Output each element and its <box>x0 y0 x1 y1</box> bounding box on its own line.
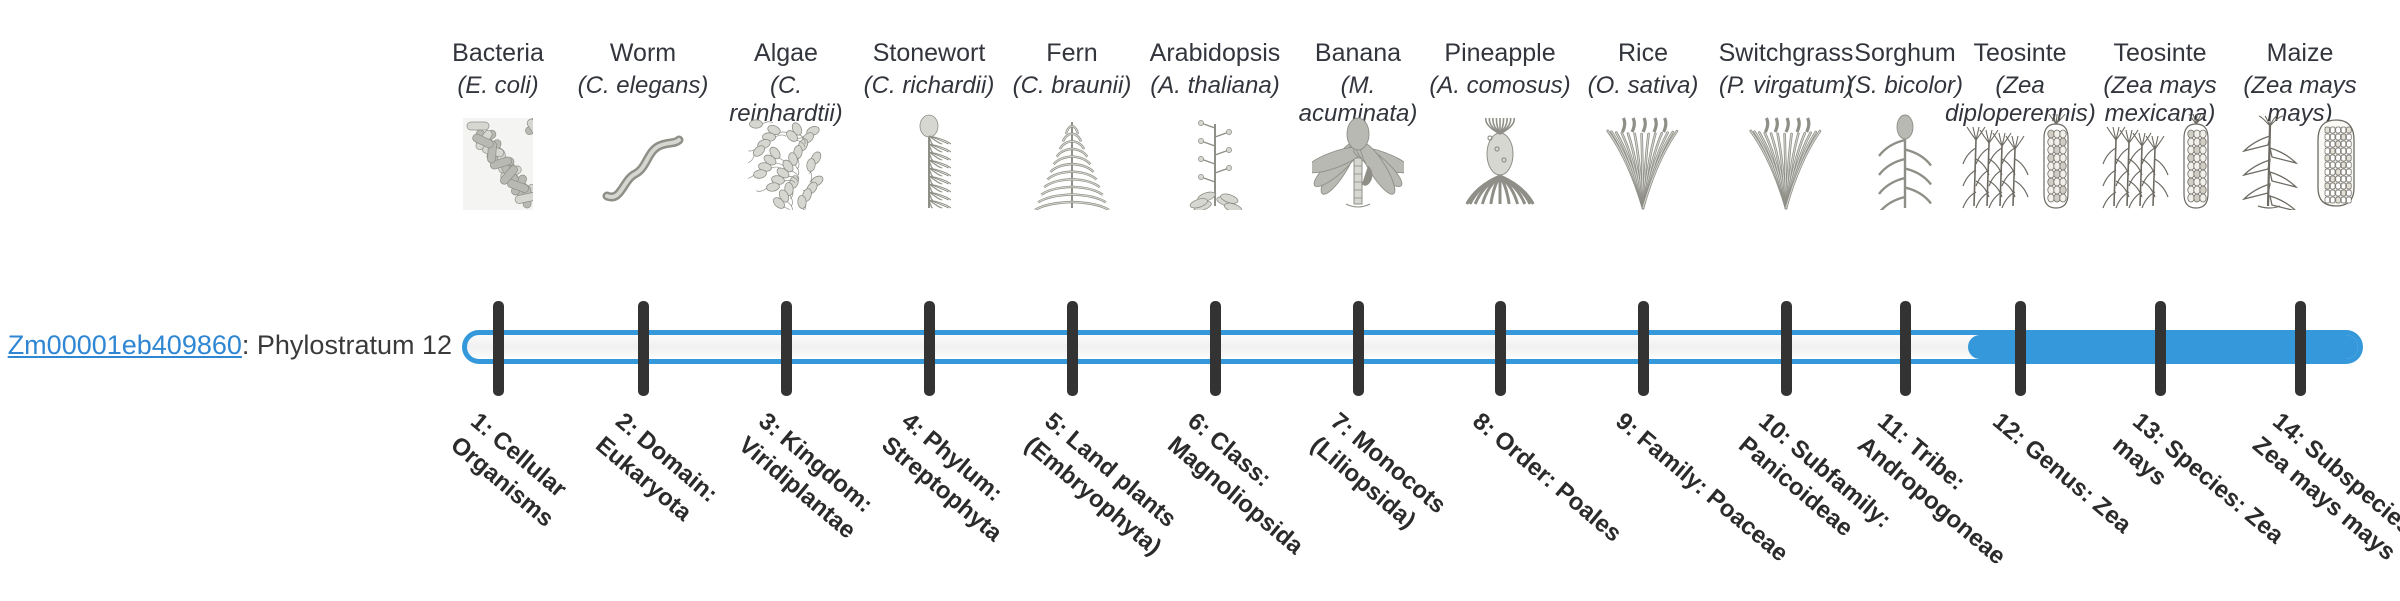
stratum-tick[interactable] <box>2015 301 2026 396</box>
nematode-worm-icon <box>568 110 718 210</box>
stonewort-icon <box>854 110 1004 210</box>
species-common-name: Bacteria <box>423 38 573 68</box>
teosinte-plant-ear-icon <box>1945 110 2095 210</box>
species-latin-name: (E. coli) <box>423 72 573 100</box>
stratum-tick[interactable] <box>1353 301 1364 396</box>
stratum-tick[interactable] <box>1067 301 1078 396</box>
stratum-tick[interactable] <box>781 301 792 396</box>
banana-plant-icon <box>1283 110 1433 210</box>
maize-plant-cob-icon <box>2225 110 2375 210</box>
phylostratum-value: Phylostratum 12 <box>257 330 452 360</box>
species-common-name: Fern <box>997 38 1147 68</box>
stratum-tick[interactable] <box>1900 301 1911 396</box>
teosinte-plant-ear-icon <box>2085 110 2235 210</box>
gene-phylostratum-label: Zm00001eb409860: Phylostratum 12 <box>0 329 452 361</box>
phylostratum-track[interactable] <box>462 330 2363 364</box>
species-common-name: Maize <box>2225 38 2375 68</box>
species-common-name: Pineapple <box>1425 38 1575 68</box>
species-common-name: Algae <box>711 38 861 68</box>
stratum-tick[interactable] <box>638 301 649 396</box>
fern-frond-icon <box>997 110 1147 210</box>
species-latin-name: (C. elegans) <box>568 72 718 100</box>
species-latin-name: (C. braunii) <box>997 72 1147 100</box>
algae-cells-icon <box>711 110 861 210</box>
rice-plant-icon <box>1568 110 1718 210</box>
arabidopsis-icon <box>1140 110 1290 210</box>
stratum-tick[interactable] <box>1638 301 1649 396</box>
species-latin-name: (O. sativa) <box>1568 72 1718 100</box>
species-latin-name: (A. comosus) <box>1425 72 1575 100</box>
bacteria-rods-icon <box>423 110 573 210</box>
species-common-name: Worm <box>568 38 718 68</box>
species-common-name: Banana <box>1283 38 1433 68</box>
stratum-tick[interactable] <box>924 301 935 396</box>
stratum-tick[interactable] <box>1210 301 1221 396</box>
species-common-name: Rice <box>1568 38 1718 68</box>
stratum-tick[interactable] <box>2295 301 2306 396</box>
pineapple-plant-icon <box>1425 110 1575 210</box>
species-latin-name: (A. thaliana) <box>1140 72 1290 100</box>
stratum-tick[interactable] <box>1781 301 1792 396</box>
stratum-tick[interactable] <box>1495 301 1506 396</box>
species-common-name: Teosinte <box>2085 38 2235 68</box>
species-latin-name: (C. richardii) <box>854 72 1004 100</box>
gene-id-link[interactable]: Zm00001eb409860 <box>8 330 242 360</box>
stratum-tick[interactable] <box>493 301 504 396</box>
gene-label-separator: : <box>242 330 257 360</box>
stratum-tick[interactable] <box>2155 301 2166 396</box>
species-common-name: Teosinte <box>1945 38 2095 68</box>
species-common-name: Stonewort <box>854 38 1004 68</box>
phylostratigraphy-chart: Zm00001eb409860: Phylostratum 12 Bacteri… <box>0 0 2400 580</box>
species-common-name: Arabidopsis <box>1140 38 1290 68</box>
